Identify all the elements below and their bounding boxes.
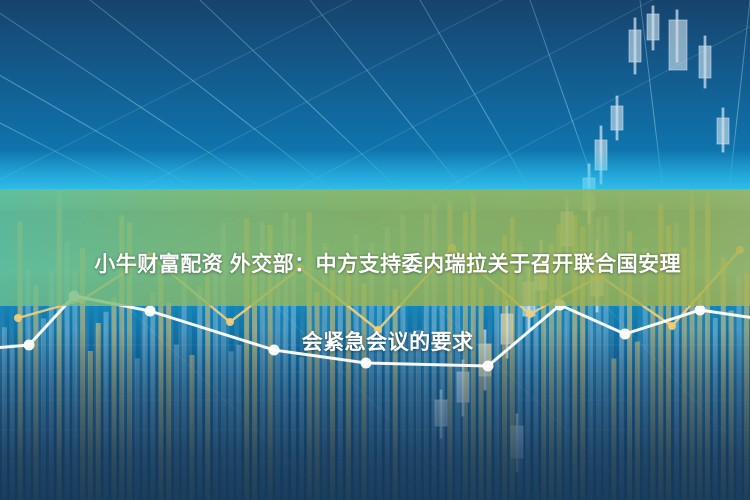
page-title-line-1: 小牛财富配资 外交部：中方支持委内瑞拉关于召开联合国安理: [94, 253, 681, 276]
banner-image: 小牛财富配资 外交部：中方支持委内瑞拉关于召开联合国安理 会紧急会议的要求: [0, 0, 750, 500]
page-title: 小牛财富配资 外交部：中方支持委内瑞拉关于召开联合国安理 会紧急会议的要求: [0, 206, 750, 401]
page-title-line-2: 会紧急会议的要求: [302, 331, 474, 354]
